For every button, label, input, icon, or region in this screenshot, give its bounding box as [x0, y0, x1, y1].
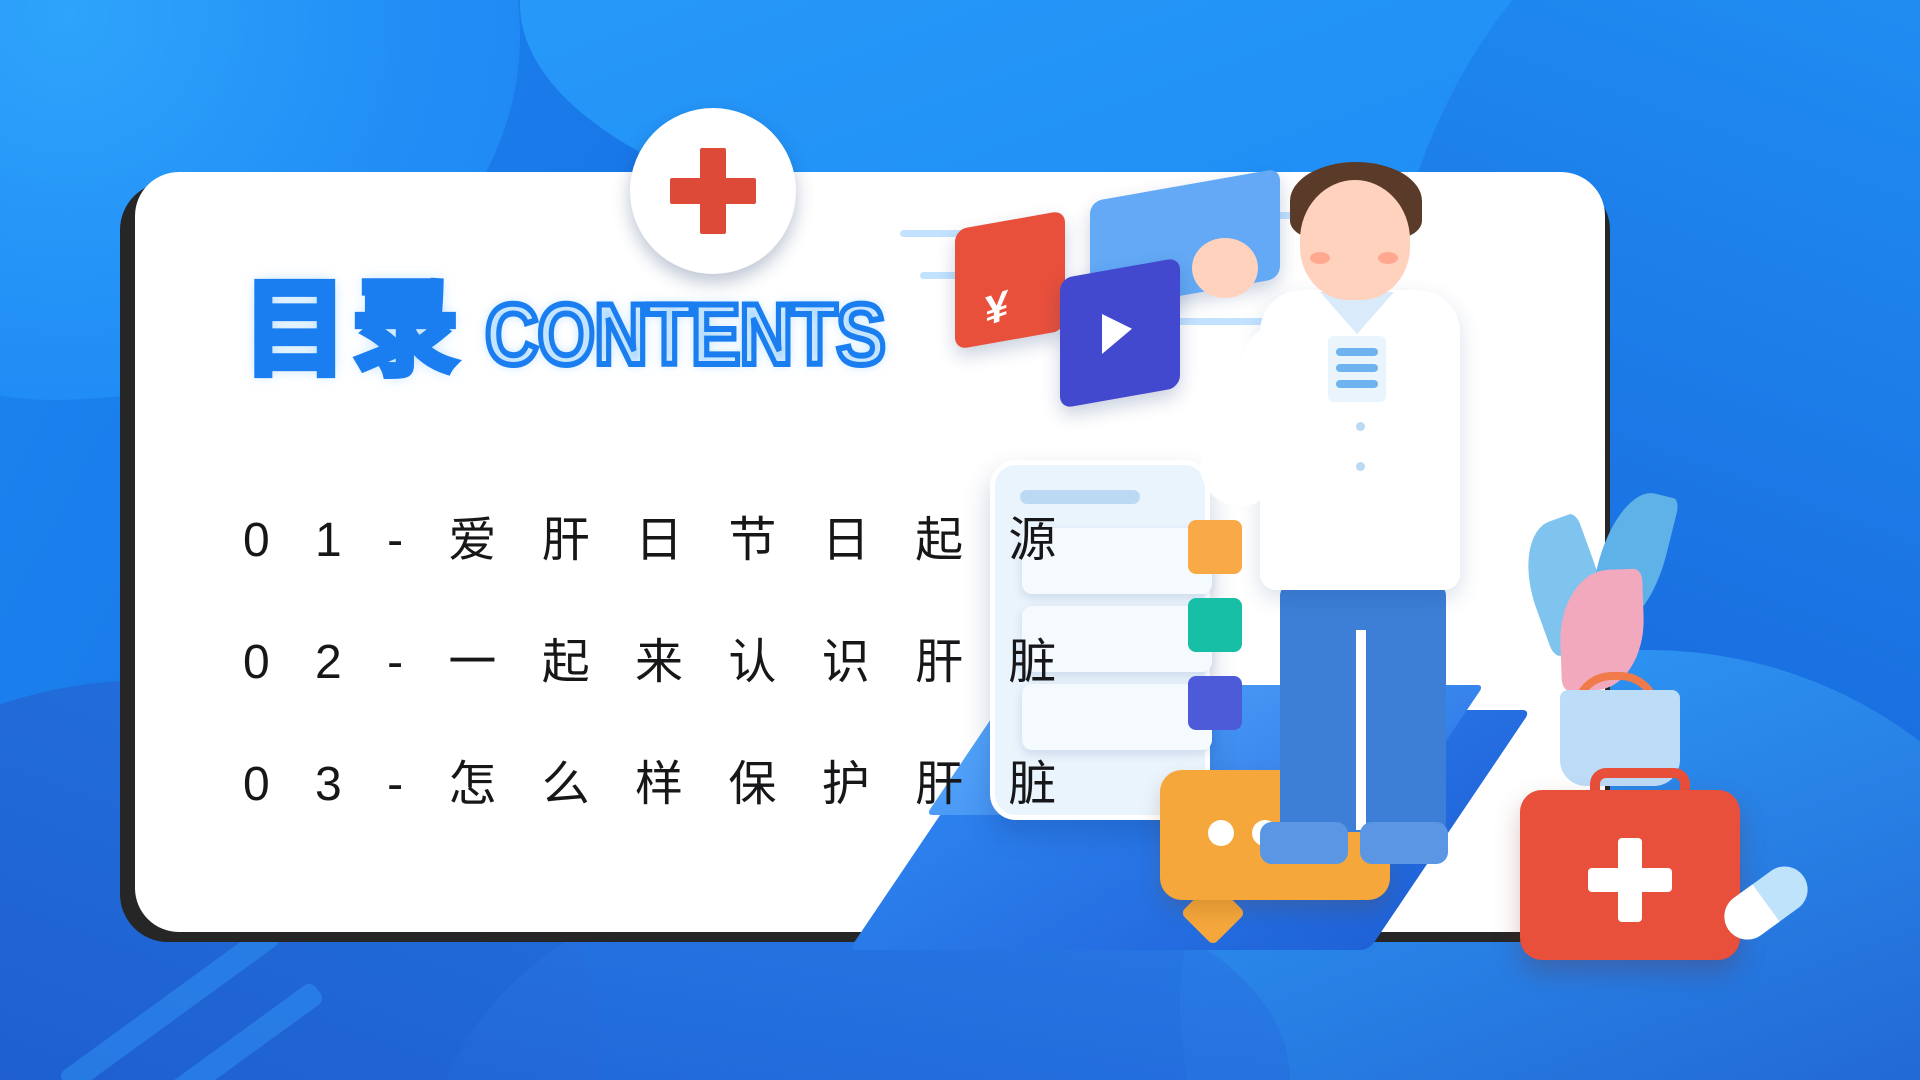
doctor-cheek — [1378, 252, 1398, 264]
first-aid-cross-icon — [1588, 838, 1672, 922]
title-chinese: 目录 — [243, 278, 463, 382]
badge-line — [1336, 380, 1378, 388]
doctor-leg-gap — [1356, 630, 1366, 830]
currency-symbol: ¥ — [985, 280, 1008, 336]
title-english: CONTENTS — [485, 292, 885, 382]
slide-root: 目录 CONTENTS 0 1 - 爱 肝 日 节 日 起 源 0 2 - 一 … — [0, 0, 1920, 1080]
doctor-shoe — [1260, 822, 1348, 864]
doctor-head — [1300, 180, 1410, 300]
page-title: 目录 CONTENTS — [243, 278, 950, 382]
coat-button — [1356, 462, 1365, 471]
swatch-orange — [1188, 520, 1242, 574]
list-item[interactable]: 0 3 - 怎 么 样 保 护 肝 脏 — [243, 744, 1072, 814]
coat-button — [1356, 422, 1365, 431]
doctor-cheek — [1310, 252, 1330, 264]
list-item[interactable]: 0 1 - 爱 肝 日 节 日 起 源 — [243, 500, 1072, 570]
badge-line — [1336, 364, 1378, 372]
medical-cross-icon — [670, 148, 756, 234]
swatch-teal — [1188, 598, 1242, 652]
list-item[interactable]: 0 2 - 一 起 来 认 识 肝 脏 — [243, 622, 1072, 692]
media-tile-payment: ¥ — [955, 210, 1065, 349]
doctor-hand — [1192, 238, 1258, 298]
doctor-shoe — [1360, 822, 1448, 864]
illustration: ¥ — [960, 190, 1720, 950]
contents-list: 0 1 - 爱 肝 日 节 日 起 源 0 2 - 一 起 来 认 识 肝 脏 … — [243, 500, 1072, 866]
badge-line — [1336, 348, 1378, 356]
medical-cross-badge — [630, 108, 796, 274]
swatch-indigo — [1188, 676, 1242, 730]
bubble-dot — [1208, 820, 1234, 846]
